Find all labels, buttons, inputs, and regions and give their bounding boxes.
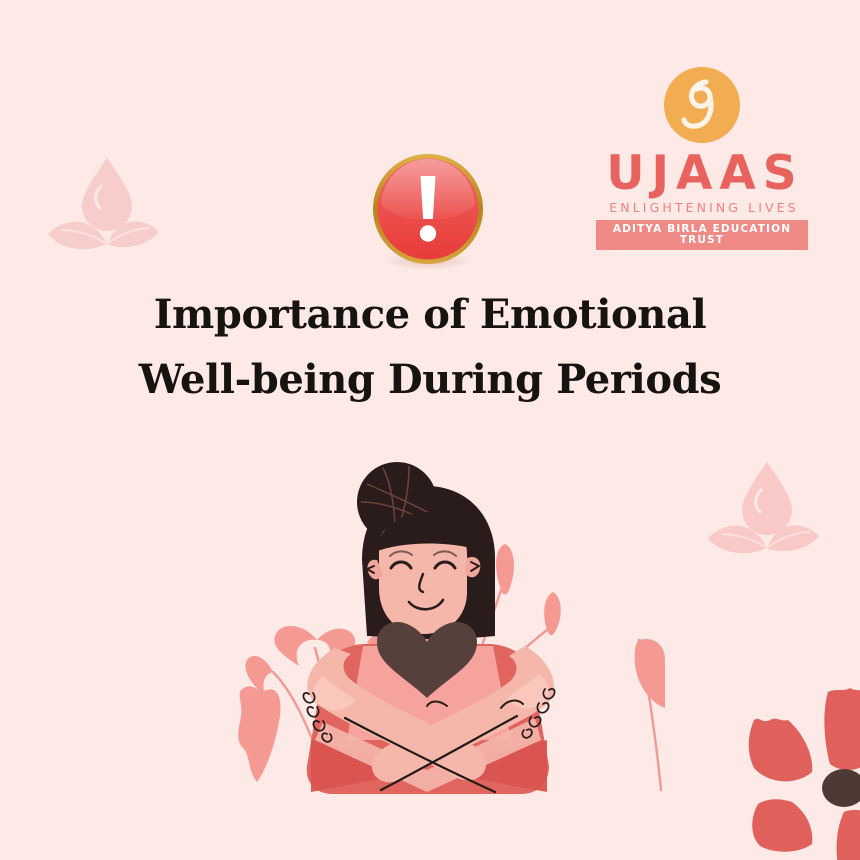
droplet-and-leaves-icon: [702, 452, 832, 572]
logo-tagline: ENLIGHTENING LIVES: [600, 200, 808, 215]
logo-wordmark: UJAAS: [602, 152, 808, 197]
woman-self-hug-illustration: [195, 440, 665, 810]
page-title-line-2: Well-being During Periods: [0, 348, 860, 413]
ujaas-logo: UJAAS ENLIGHTENING LIVES ADITYA BIRLA ED…: [596, 66, 808, 250]
ujaas-swirl-emblem-icon: [663, 66, 741, 144]
exclamation-mark-icon: [369, 152, 487, 270]
poster-canvas: UJAAS ENLIGHTENING LIVES ADITYA BIRLA ED…: [0, 0, 860, 860]
droplet-and-leaves-icon: [42, 148, 172, 268]
logo-trust-bar: ADITYA BIRLA EDUCATION TRUST: [596, 220, 808, 250]
page-title-line-1: Importance of Emotional: [0, 283, 860, 348]
page-title: Importance of Emotional Well-being Durin…: [0, 283, 860, 413]
coral-flower-icon: [740, 672, 860, 860]
